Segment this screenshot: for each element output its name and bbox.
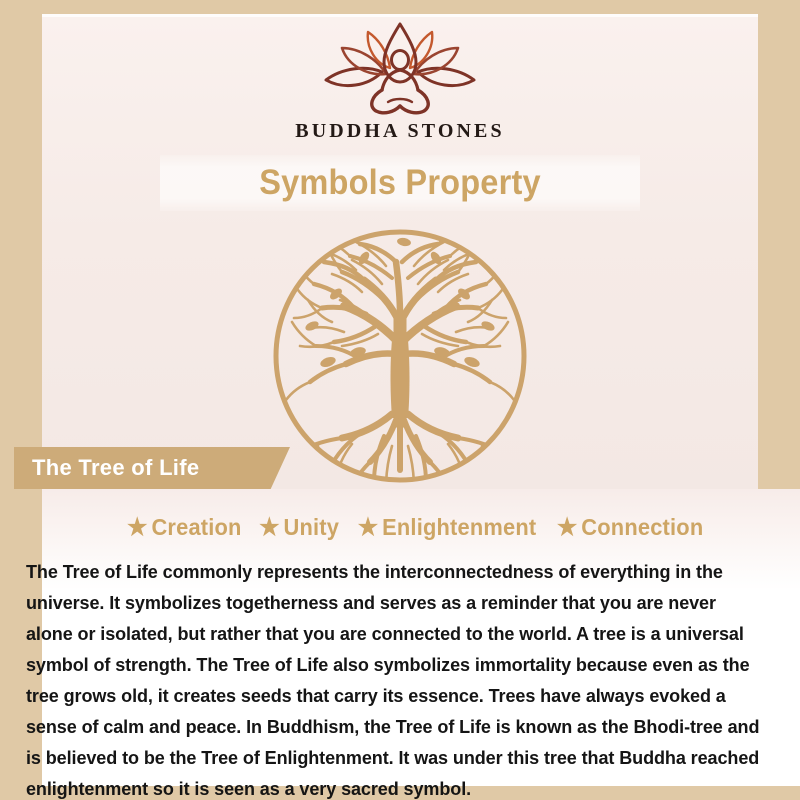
star-icon: ★	[557, 514, 578, 541]
lotus-meditation-icon	[316, 18, 484, 118]
poster-canvas: BUDDHA STONES Symbols Property	[0, 0, 800, 800]
keyword-item-creation: ★Creation	[127, 513, 242, 542]
keyword-label: Connection	[582, 514, 704, 540]
frame-band-top	[0, 0, 800, 14]
header-panel: BUDDHA STONES Symbols Property	[42, 14, 758, 500]
description-paragraph: The Tree of Life commonly represents the…	[26, 556, 763, 800]
brand-logo: BUDDHA STONES	[42, 18, 758, 143]
section-ribbon-label: The Tree of Life	[32, 447, 276, 489]
keyword-item-unity: ★Unity	[259, 513, 339, 542]
page-title: Symbols Property	[177, 155, 623, 211]
keyword-label: Creation	[152, 514, 242, 540]
star-icon: ★	[127, 514, 148, 541]
keyword-item-enlightenment: ★Enlightenment	[358, 513, 537, 542]
tree-of-life-icon	[266, 222, 534, 490]
title-banner: Symbols Property	[160, 155, 640, 211]
brand-name: BUDDHA STONES	[42, 120, 758, 143]
keyword-item-connection: ★Connection	[557, 513, 704, 542]
content-panel: ★Creation★Unity★Enlightenment★Connection…	[42, 489, 800, 786]
keyword-label: Unity	[284, 514, 340, 540]
keyword-list: ★Creation★Unity★Enlightenment★Connection	[42, 513, 790, 542]
star-icon: ★	[358, 514, 379, 541]
star-icon: ★	[259, 514, 280, 541]
keyword-label: Enlightenment	[382, 514, 536, 540]
